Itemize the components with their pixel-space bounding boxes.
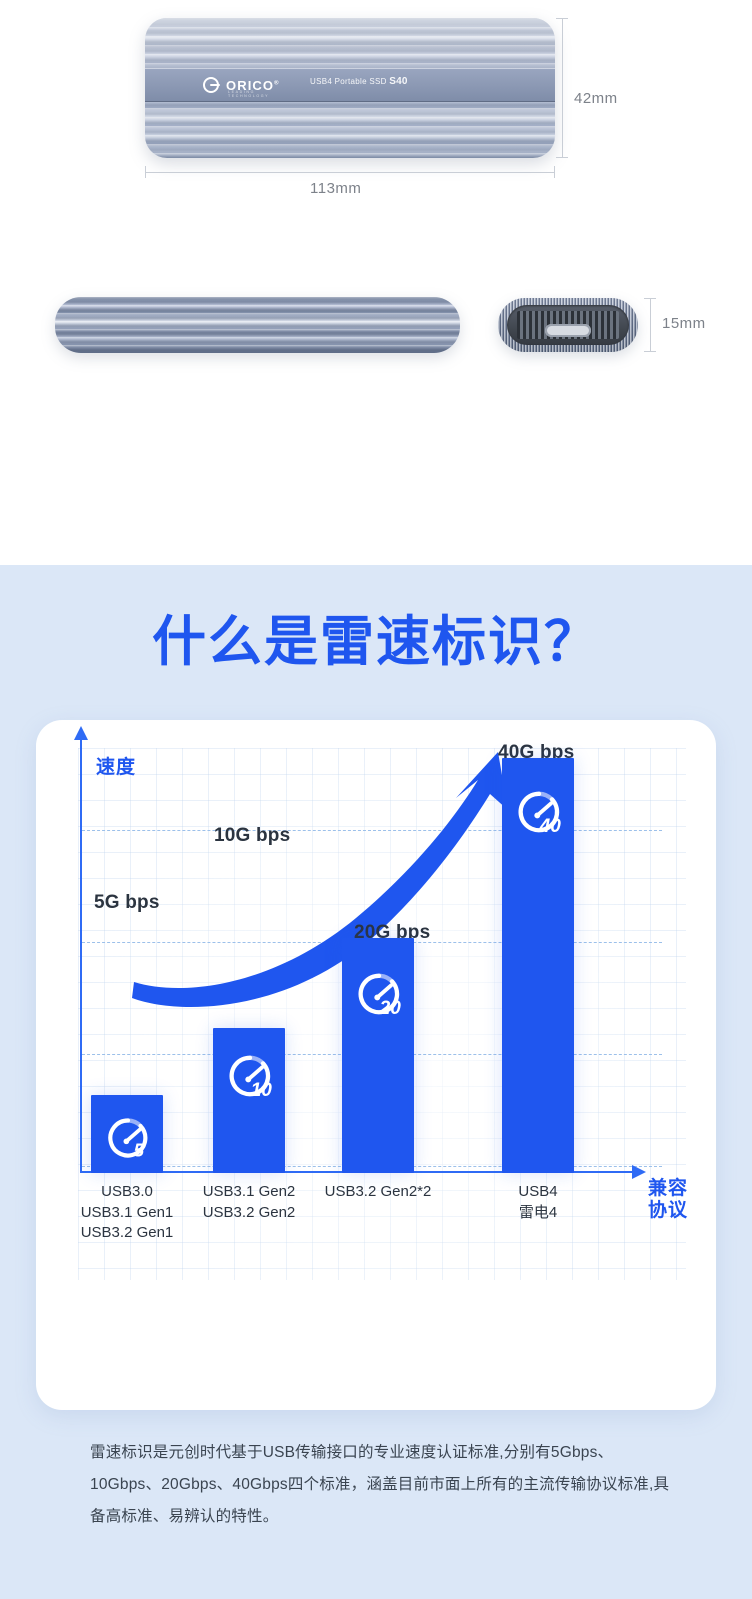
model-text: USB4 Portable SSD S40 — [310, 76, 408, 87]
speed-badge-20-icon: 20 — [353, 968, 405, 1020]
bar-usb31gen2[interactable]: 10 — [213, 1028, 285, 1173]
growth-arrow-icon — [126, 750, 546, 1010]
width-dimension-line — [145, 172, 555, 173]
registered-mark: ® — [274, 80, 280, 86]
bar-usb32gen2x2[interactable]: 20 — [342, 938, 414, 1173]
device-end-view — [498, 298, 638, 352]
height-dimension-line — [562, 18, 563, 158]
device-side-view — [55, 297, 460, 353]
category-label-usb31gen2: USB3.1 Gen2USB3.2 Gen2 — [186, 1182, 312, 1223]
depth-tick-top — [644, 298, 656, 299]
category-label-usb30: USB3.0USB3.1 Gen1USB3.2 Gen1 — [61, 1182, 193, 1244]
height-tick-top — [556, 18, 568, 19]
svg-text:20: 20 — [379, 998, 402, 1019]
product-dimensions-section: ORICO® LEADING TECHNOLOGY USB4 Portable … — [0, 0, 752, 565]
speed-badge-5-icon: 5 — [103, 1113, 153, 1163]
width-tick-left — [145, 166, 146, 178]
category-label-usb32gen2x2: USB3.2 Gen2*2 — [318, 1182, 438, 1203]
width-tick-right — [554, 166, 555, 178]
usb-c-port-icon — [545, 324, 591, 337]
depth-dimension-label: 15mm — [662, 315, 706, 332]
speed-bar-chart: 速度 兼容协议 5G bps 5 — [36, 720, 716, 1410]
bar-value-label: 10G bps — [214, 825, 290, 847]
bar-value-label: 5G bps — [94, 892, 160, 914]
speed-badge-40-icon: 40 — [513, 786, 565, 838]
svg-text:40: 40 — [539, 816, 562, 837]
side-ridge-texture — [55, 297, 460, 353]
section-title: 什么是雷速标识？ — [0, 597, 752, 676]
speed-standard-section: 什么是雷速标识？ 速度 兼容协议 — [0, 565, 752, 1599]
speed-badge-10-icon: 10 — [224, 1050, 276, 1102]
height-tick-bottom — [556, 157, 568, 158]
bar-usb4[interactable]: 40 — [502, 758, 574, 1173]
orico-logo-icon — [203, 77, 219, 93]
height-dimension-label: 42mm — [574, 90, 618, 107]
x-axis-arrow-icon — [632, 1165, 646, 1179]
category-label-usb4: USB4雷电4 — [488, 1182, 588, 1223]
model-prefix: USB4 Portable SSD — [310, 77, 387, 86]
product-detail-page: ORICO® LEADING TECHNOLOGY USB4 Portable … — [0, 0, 752, 1599]
end-face — [507, 305, 629, 345]
bar-usb30[interactable]: 5 — [91, 1095, 163, 1173]
x-axis-label: 兼容协议 — [648, 1178, 688, 1223]
model-name: S40 — [389, 76, 407, 87]
chart-plot-area: 速度 兼容协议 5G bps 5 — [36, 720, 716, 1410]
brand-lockup: ORICO® LEADING TECHNOLOGY — [203, 72, 280, 98]
depth-tick-bottom — [644, 351, 656, 352]
y-axis — [80, 738, 82, 1173]
svg-text:10: 10 — [251, 1080, 273, 1101]
device-body: ORICO® LEADING TECHNOLOGY USB4 Portable … — [145, 18, 555, 158]
brand-tagline: LEADING TECHNOLOGY — [228, 90, 280, 98]
svg-text:5: 5 — [134, 1139, 145, 1160]
section-caption: 雷速标识是元创时代基于USB传输接口的专业速度认证标准,分别有5Gbps、10G… — [90, 1437, 670, 1532]
width-dimension-label: 113mm — [310, 180, 361, 197]
depth-dimension-line — [650, 298, 651, 352]
device-front-view: ORICO® LEADING TECHNOLOGY USB4 Portable … — [145, 18, 555, 158]
y-axis-arrow-icon — [74, 726, 88, 740]
